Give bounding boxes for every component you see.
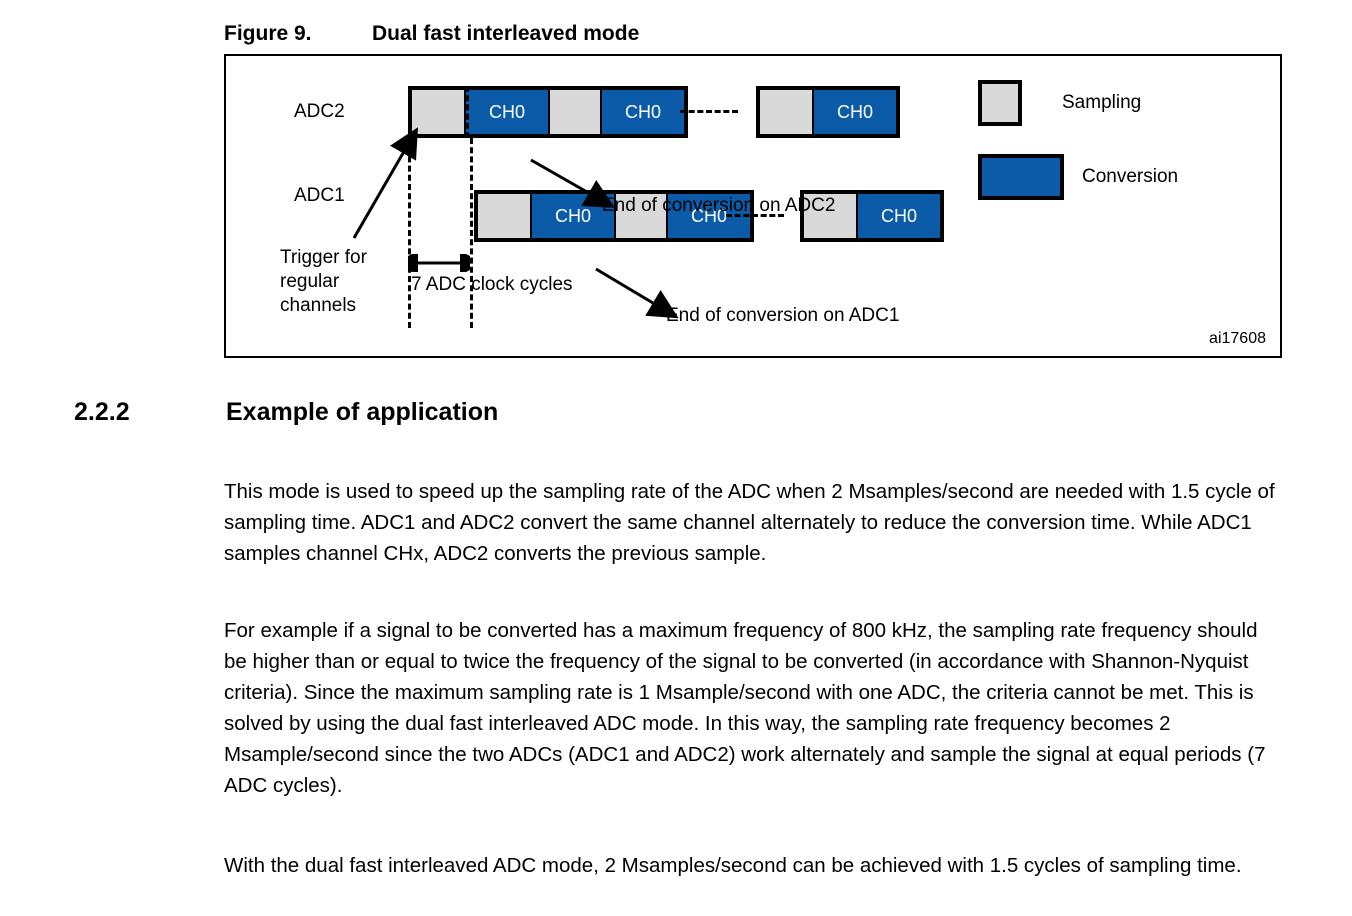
legend-label-conversion: Conversion [1082, 166, 1178, 188]
row-label-adc1: ADC1 [294, 185, 345, 207]
annotation-clock-cycles: 7 ADC clock cycles [411, 274, 573, 296]
adc2-sampling-block-3 [760, 90, 812, 134]
section-title: Example of application [226, 398, 498, 426]
section-number: 2.2.2 [74, 398, 226, 427]
trigger-guide-line [408, 138, 411, 328]
adc2-conversion-block-3: CH0 [812, 90, 896, 134]
figure-title: Dual fast interleaved mode [372, 22, 639, 45]
annotation-trigger-label: Trigger for regular channels [280, 246, 367, 318]
legend-swatch-conversion [978, 154, 1064, 200]
legend-label-sampling: Sampling [1062, 92, 1141, 114]
trigger-label-line-1: Trigger for [280, 246, 367, 270]
adc2-continuation-dashes [680, 110, 738, 113]
figure-id: ai17608 [1209, 330, 1266, 348]
end-conversion-adc1-arrow [596, 269, 658, 306]
annotation-end-conversion-adc2: End of conversion on ADC2 [602, 195, 835, 217]
trigger-arrow [354, 148, 406, 238]
body-paragraph-3: With the dual fast interleaved ADC mode,… [224, 850, 1282, 881]
figure-caption: Figure 9.Dual fast interleaved mode [224, 22, 639, 46]
body-paragraph-1: This mode is used to speed up the sampli… [224, 476, 1282, 569]
figure-diagram: ADC2 ADC1 CH0 CH0 CH0 CH0 CH0 CH0 [224, 54, 1282, 358]
annotation-end-conversion-adc1: End of conversion on ADC1 [666, 305, 899, 327]
trigger-label-line-2: regular [280, 270, 367, 294]
adc2-sampling-block-2 [548, 90, 600, 134]
adc2-sampling-block-1 [412, 90, 464, 134]
figure-number: Figure 9. [224, 22, 372, 46]
adc2-conversion-label-1: CH0 [489, 102, 525, 123]
seven-cycles-measure-arrow [408, 254, 470, 272]
adc2-block-group-a: CH0 CH0 [408, 86, 688, 138]
adc1-conversion-block-3: CH0 [856, 194, 940, 238]
trigger-label-line-3: channels [280, 294, 367, 318]
conversion-start-dash [466, 86, 469, 138]
body-paragraph-2: For example if a signal to be converted … [224, 615, 1282, 801]
adc2-block-group-b: CH0 [756, 86, 900, 138]
adc2-conversion-block-1: CH0 [464, 90, 548, 134]
adc2-conversion-block-2: CH0 [600, 90, 684, 134]
row-label-adc2: ADC2 [294, 101, 345, 123]
figure-legend: Sampling Conversion [978, 80, 1178, 228]
section-heading: 2.2.2Example of application [74, 398, 498, 427]
conversion-start-guide-line [470, 138, 473, 328]
legend-item-sampling: Sampling [978, 80, 1178, 126]
legend-swatch-sampling [978, 80, 1022, 126]
adc1-sampling-block-1 [478, 194, 530, 238]
legend-item-conversion: Conversion [978, 154, 1178, 200]
